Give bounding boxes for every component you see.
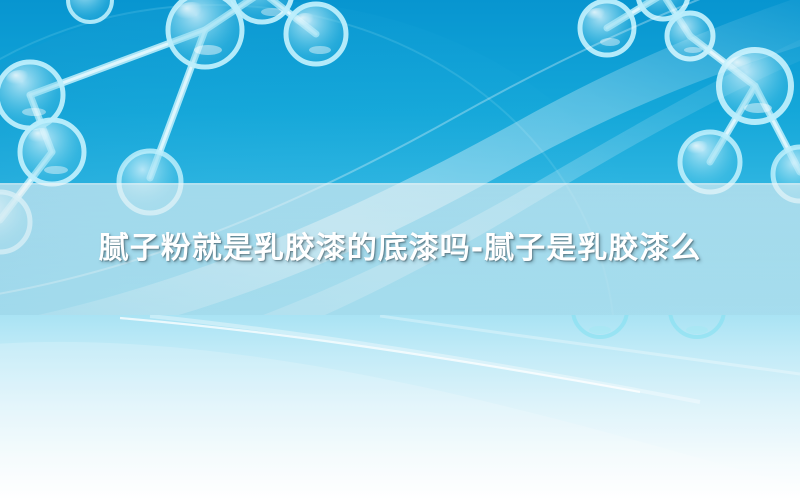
bottom-gradient-region [0,283,800,500]
title-container: 腻子粉就是乳胶漆的底漆吗-腻子是乳胶漆么 [0,183,800,315]
banner-image: 腻子粉就是乳胶漆的底漆吗-腻子是乳胶漆么 [0,0,800,500]
page-title: 腻子粉就是乳胶漆的底漆吗-腻子是乳胶漆么 [99,234,701,264]
